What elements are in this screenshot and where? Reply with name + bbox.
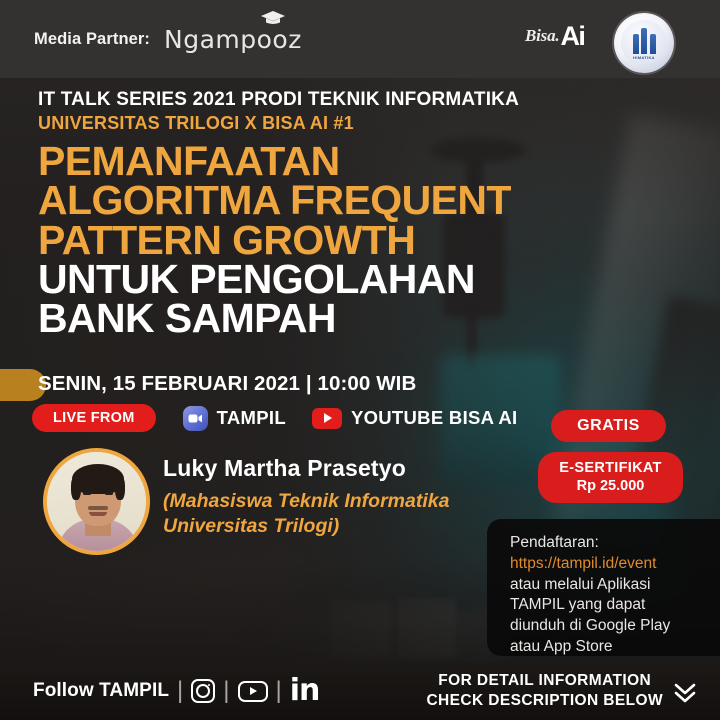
- ai-wordmark: Ai: [560, 24, 584, 48]
- event-poster: Media Partner: Ngampooz Bisa. Ai HIMATIK…: [0, 0, 720, 720]
- page-title: PEMANFAATAN ALGORITMA FREQUENT PATTERN G…: [38, 142, 511, 339]
- registration-line-6: atau App Store: [510, 637, 720, 658]
- ngampooz-wordmark: Ngampooz: [164, 25, 302, 54]
- registration-line-4: TAMPIL yang dapat: [510, 595, 720, 616]
- platform-youtube[interactable]: YOUTUBE BISA AI: [312, 407, 518, 429]
- logo-pillars: [633, 28, 656, 54]
- headline-line-5: BANK SAMPAH: [38, 299, 511, 338]
- bisa-wordmark: Bisa.: [525, 26, 559, 46]
- ngampooz-logo: Ngampooz: [164, 25, 302, 54]
- graduation-cap-icon: [260, 10, 286, 26]
- footer-info-line-1: FOR DETAIL INFORMATION: [426, 671, 663, 691]
- footer-info-line-2: CHECK DESCRIPTION BELOW: [426, 691, 663, 711]
- double-chevron-down-icon: [672, 678, 698, 704]
- youtube-label: YOUTUBE BISA AI: [351, 407, 518, 429]
- linkedin-icon[interactable]: in: [290, 676, 320, 706]
- video-camera-icon: [183, 406, 208, 431]
- speaker-role-line-2: Universitas Trilogi): [163, 514, 449, 539]
- registration-url[interactable]: https://tampil.id/event: [510, 554, 720, 575]
- headline-line-2: ALGORITMA FREQUENT: [38, 181, 511, 220]
- media-partner-label: Media Partner:: [34, 30, 150, 49]
- logo-text: HIMATIKA: [621, 55, 667, 60]
- certificate-label: E-SERTIFIKAT: [538, 459, 683, 477]
- headline-line-4: UNTUK PENGOLAHAN: [38, 260, 511, 299]
- separator-3: |: [276, 677, 282, 705]
- speaker-role: (Mahasiswa Teknik Informatika Universita…: [163, 489, 449, 539]
- certificate-price: Rp 25.000: [538, 477, 683, 495]
- follow-label: Follow TAMPIL: [33, 680, 169, 702]
- footer-info: FOR DETAIL INFORMATION CHECK DESCRIPTION…: [426, 671, 698, 711]
- headline-line-3: PATTERN GROWTH: [38, 221, 511, 260]
- headline-line-1: PEMANFAATAN: [38, 142, 511, 181]
- university-logo: HIMATIKA: [614, 13, 674, 73]
- youtube-play-icon: [312, 408, 342, 429]
- event-kicker: IT TALK SERIES 2021 PRODI TEKNIK INFORMA…: [38, 88, 519, 135]
- separator-2: |: [223, 677, 229, 705]
- registration-panel: Pendaftaran: https://tampil.id/event ata…: [487, 519, 720, 656]
- kicker-line-1: IT TALK SERIES 2021 PRODI TEKNIK INFORMA…: [38, 88, 519, 112]
- separator-1: |: [177, 677, 183, 705]
- gratis-badge: GRATIS: [551, 410, 666, 442]
- avatar: [43, 448, 150, 555]
- instagram-icon[interactable]: [191, 679, 215, 703]
- live-from-badge: LIVE FROM: [32, 404, 156, 432]
- registration-line-5: diunduh di Google Play: [510, 616, 720, 637]
- speaker-role-line-1: (Mahasiswa Teknik Informatika: [163, 489, 449, 514]
- tampil-label: TAMPIL: [217, 407, 286, 429]
- kicker-line-2: UNIVERSITAS TRILOGI X BISA AI #1: [38, 112, 519, 135]
- platform-tampil[interactable]: TAMPIL: [183, 406, 286, 431]
- broadcast-row: LIVE FROM TAMPIL YOUTUBE BISA AI: [32, 404, 518, 432]
- bisa-ai-logo: Bisa. Ai: [525, 24, 584, 48]
- registration-heading: Pendaftaran:: [510, 533, 720, 554]
- footer-bar: Follow TAMPIL | | | in FOR DETAIL INFORM…: [0, 662, 720, 720]
- youtube-icon[interactable]: [238, 681, 268, 702]
- registration-line-3: atau melalui Aplikasi: [510, 575, 720, 596]
- speaker-name: Luky Martha Prasetyo: [163, 455, 406, 482]
- certificate-badge: E-SERTIFIKAT Rp 25.000: [538, 452, 683, 503]
- event-datetime: SENIN, 15 FEBRUARI 2021 | 10:00 WIB: [38, 372, 416, 396]
- top-partner-bar: Media Partner: Ngampooz Bisa. Ai HIMATIK…: [0, 0, 720, 78]
